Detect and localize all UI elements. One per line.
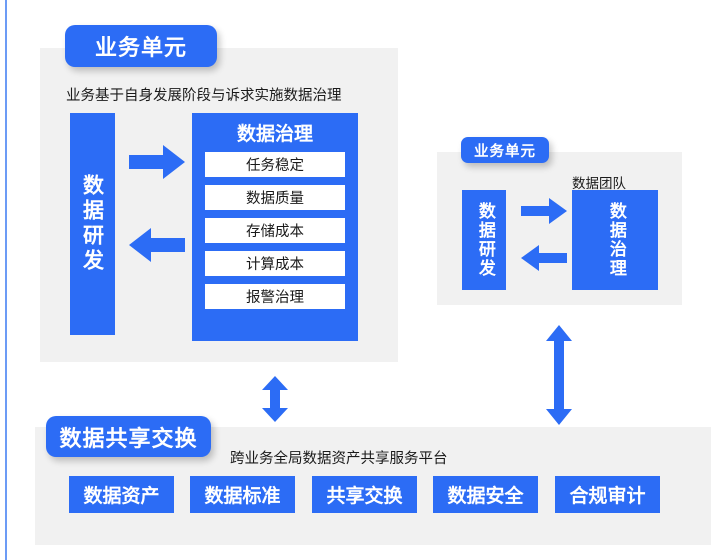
badge-business-unit-right: 业务单元 xyxy=(461,137,549,163)
badge-business-unit-left: 业务单元 xyxy=(65,25,217,67)
caption-data-team: 数据团队 xyxy=(572,172,626,192)
governance-item[interactable]: 存储成本 xyxy=(205,218,345,243)
capability-card[interactable]: 数据资产 xyxy=(69,476,174,513)
capability-card[interactable]: 数据标准 xyxy=(190,476,295,513)
rnd-box-right: 数据研发 xyxy=(462,190,506,290)
capability-card[interactable]: 共享交换 xyxy=(312,476,417,513)
governance-box-right-label: 数据治理 xyxy=(606,202,624,278)
governance-item-list: 任务稳定 数据质量 存储成本 计算成本 报警治理 xyxy=(192,152,358,309)
caption-business-unit-left: 业务基于自身发展阶段与诉求实施数据治理 xyxy=(66,84,342,105)
caption-data-sharing: 跨业务全局数据资产共享服务平台 xyxy=(230,447,448,468)
capability-card[interactable]: 数据安全 xyxy=(433,476,538,513)
slide-edge-rule xyxy=(5,0,7,560)
badge-data-sharing: 数据共享交换 xyxy=(46,416,211,457)
rnd-box-right-label: 数据研发 xyxy=(475,202,493,278)
capability-card[interactable]: 合规审计 xyxy=(555,476,660,513)
double-arrow-vertical-icon-left xyxy=(262,376,288,422)
diagram-canvas: 业务单元 业务基于自身发展阶段与诉求实施数据治理 数据研发 数据治理 任务稳定 … xyxy=(0,0,716,560)
rnd-box-left-label: 数据研发 xyxy=(81,174,103,274)
governance-item[interactable]: 数据质量 xyxy=(205,185,345,210)
arrow-right-icon-right-panel xyxy=(521,198,567,224)
rnd-box-left: 数据研发 xyxy=(70,113,115,335)
governance-box-right: 数据治理 xyxy=(572,190,658,290)
arrow-left-icon-left-panel xyxy=(129,228,185,262)
governance-item[interactable]: 计算成本 xyxy=(205,251,345,276)
governance-panel-title: 数据治理 xyxy=(237,119,313,146)
double-arrow-vertical-icon-right xyxy=(546,325,572,425)
arrow-left-icon-right-panel xyxy=(521,245,567,271)
arrow-right-icon-left-panel xyxy=(129,145,185,179)
governance-panel: 数据治理 任务稳定 数据质量 存储成本 计算成本 报警治理 xyxy=(192,113,358,341)
governance-item[interactable]: 任务稳定 xyxy=(205,152,345,177)
governance-item[interactable]: 报警治理 xyxy=(205,284,345,309)
